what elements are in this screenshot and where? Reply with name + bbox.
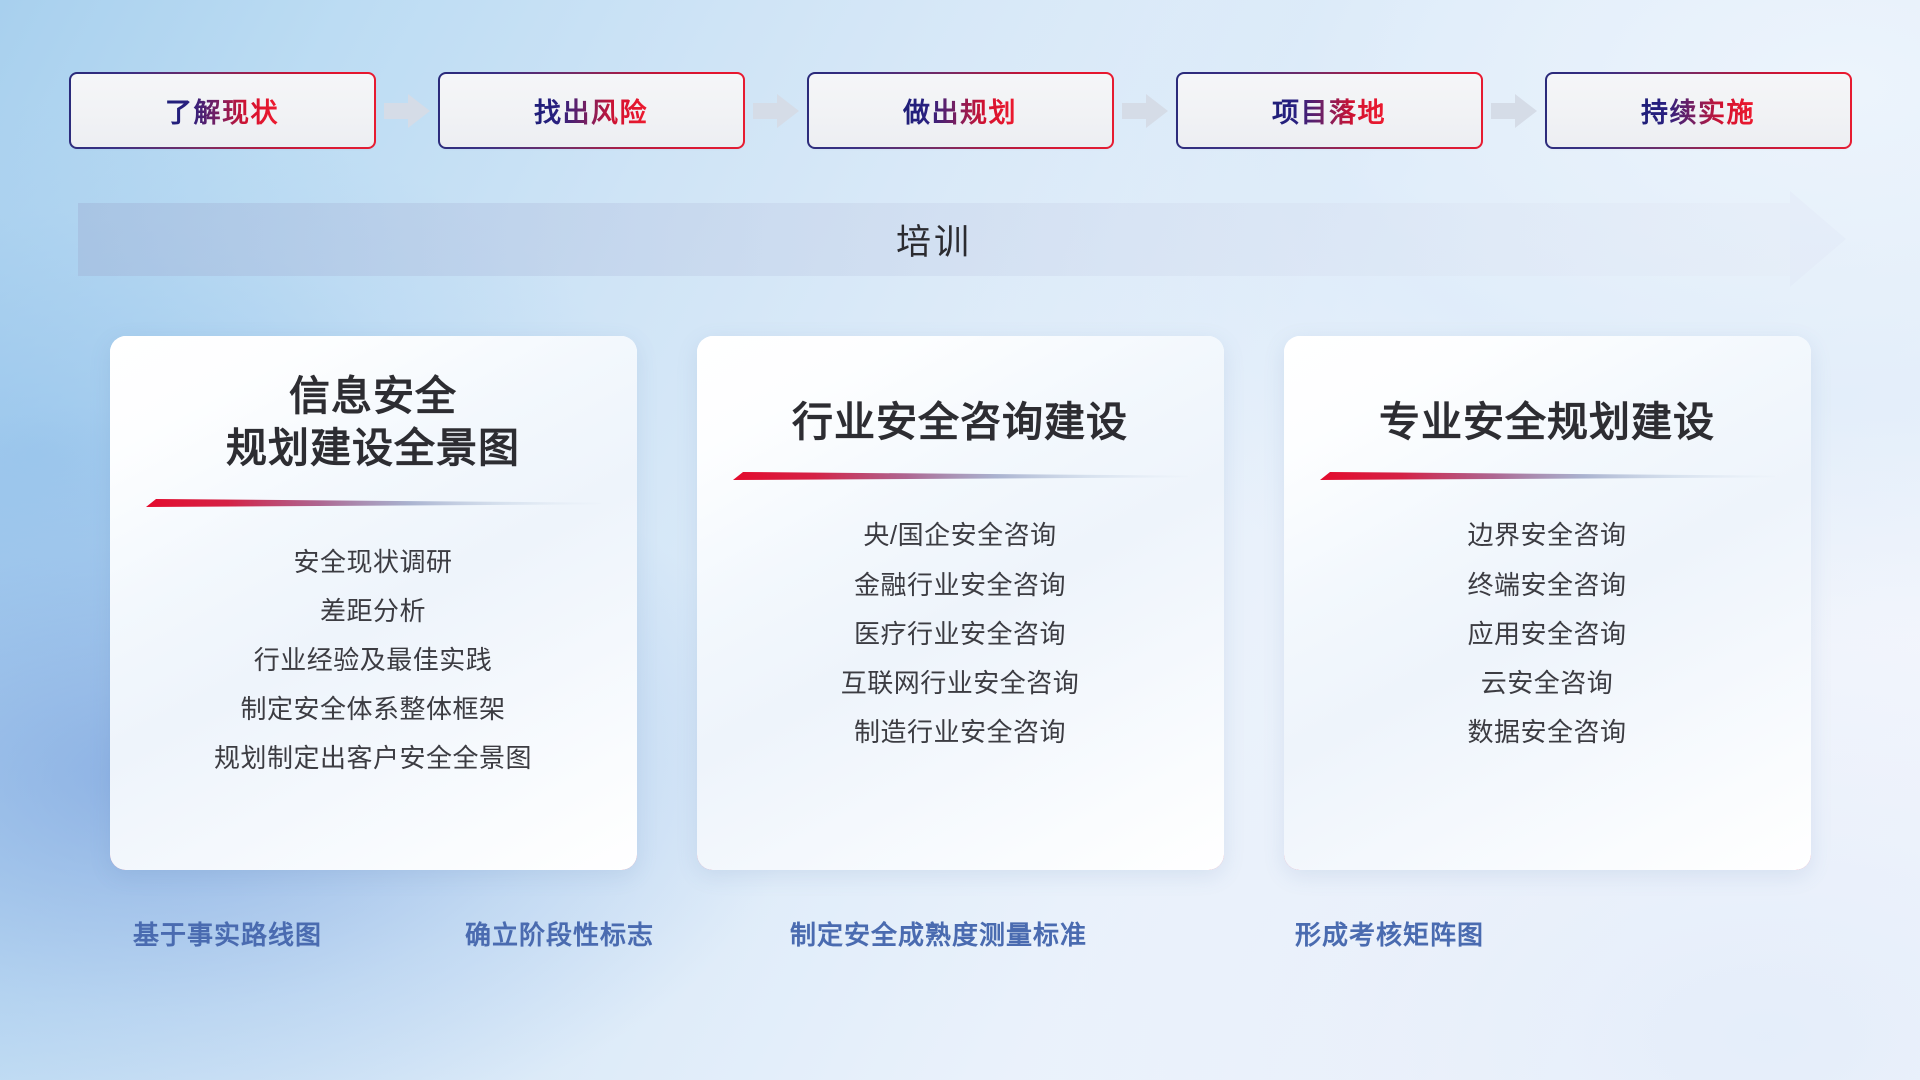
list-item: 云安全咨询 (1481, 662, 1614, 704)
arrow-right-icon-1 (384, 94, 430, 128)
card-row: 信息安全 规划建设全景图 (0, 336, 1920, 870)
card-wrap-2: 行业安全咨询建设 (697, 336, 1224, 870)
card-list-1: 安全现状调研 差距分析 行业经验及最佳实践 制定安全体系整体框架 规划制定出客户… (214, 541, 532, 780)
arrow-right-icon-3 (1122, 94, 1168, 128)
card-title-3: 专业安全规划建设 (1379, 370, 1715, 448)
list-item: 安全现状调研 (293, 541, 452, 583)
card-3[interactable]: 专业安全规划建设 (1284, 336, 1811, 870)
footer-label-2: 确立阶段性标志 (465, 915, 654, 952)
card-title-1: 信息安全 规划建设全景图 (226, 370, 520, 475)
card-wrap-1: 信息安全 规划建设全景图 (110, 336, 637, 870)
list-item: 制定安全体系整体框架 (240, 688, 505, 730)
list-item: 应用安全咨询 (1467, 613, 1626, 655)
card-divider-2 (733, 470, 1188, 484)
training-banner: 培训 (78, 203, 1846, 276)
arrow-right-icon-2 (753, 94, 799, 128)
list-item: 央/国企安全咨询 (863, 514, 1056, 556)
footer-label-4: 形成考核矩阵图 (1295, 915, 1484, 952)
card-divider-3 (1320, 470, 1775, 484)
step-label-1: 了解现状 (165, 91, 279, 130)
banner-title: 培训 (78, 203, 1790, 276)
list-item: 边界安全咨询 (1467, 514, 1626, 556)
step-box-1[interactable]: 了解现状 (71, 74, 374, 147)
card-list-3: 边界安全咨询 终端安全咨询 应用安全咨询 云安全咨询 数据安全咨询 (1467, 514, 1626, 753)
card-divider-1 (146, 497, 601, 511)
footer-label-1: 基于事实路线图 (133, 915, 322, 952)
arrow-right-icon-4 (1491, 94, 1537, 128)
step-box-3[interactable]: 做出规划 (809, 74, 1112, 147)
step-label-2: 找出风险 (534, 91, 648, 130)
card-2[interactable]: 行业安全咨询建设 (697, 336, 1224, 870)
list-item: 差距分析 (320, 590, 426, 632)
step-label-4: 项目落地 (1272, 91, 1386, 130)
card-wrap-3: 专业安全规划建设 (1284, 336, 1811, 870)
step-box-4[interactable]: 项目落地 (1178, 74, 1481, 147)
banner-arrowhead-icon (1790, 191, 1846, 287)
card-list-2: 央/国企安全咨询 金融行业安全咨询 医疗行业安全咨询 互联网行业安全咨询 制造行… (841, 514, 1080, 753)
list-item: 金融行业安全咨询 (854, 564, 1066, 606)
list-item: 医疗行业安全咨询 (854, 613, 1066, 655)
list-item: 制造行业安全咨询 (854, 711, 1066, 753)
list-item: 终端安全咨询 (1467, 564, 1626, 606)
process-step-row: 了解现状 找出风险 做出规划 项目落地 持续实施 (0, 74, 1920, 147)
step-box-2[interactable]: 找出风险 (440, 74, 743, 147)
footer-label-3: 制定安全成熟度测量标准 (790, 915, 1087, 952)
list-item: 数据安全咨询 (1467, 711, 1626, 753)
footer-label-row: 基于事实路线图 确立阶段性标志 制定安全成熟度测量标准 形成考核矩阵图 (0, 915, 1920, 955)
card-title-2: 行业安全咨询建设 (792, 370, 1128, 448)
list-item: 互联网行业安全咨询 (841, 662, 1080, 704)
list-item: 规划制定出客户安全全景图 (214, 737, 532, 779)
step-box-5[interactable]: 持续实施 (1547, 74, 1850, 147)
list-item: 行业经验及最佳实践 (254, 639, 493, 681)
step-label-3: 做出规划 (903, 91, 1017, 130)
card-1[interactable]: 信息安全 规划建设全景图 (110, 336, 637, 870)
step-label-5: 持续实施 (1641, 91, 1755, 130)
